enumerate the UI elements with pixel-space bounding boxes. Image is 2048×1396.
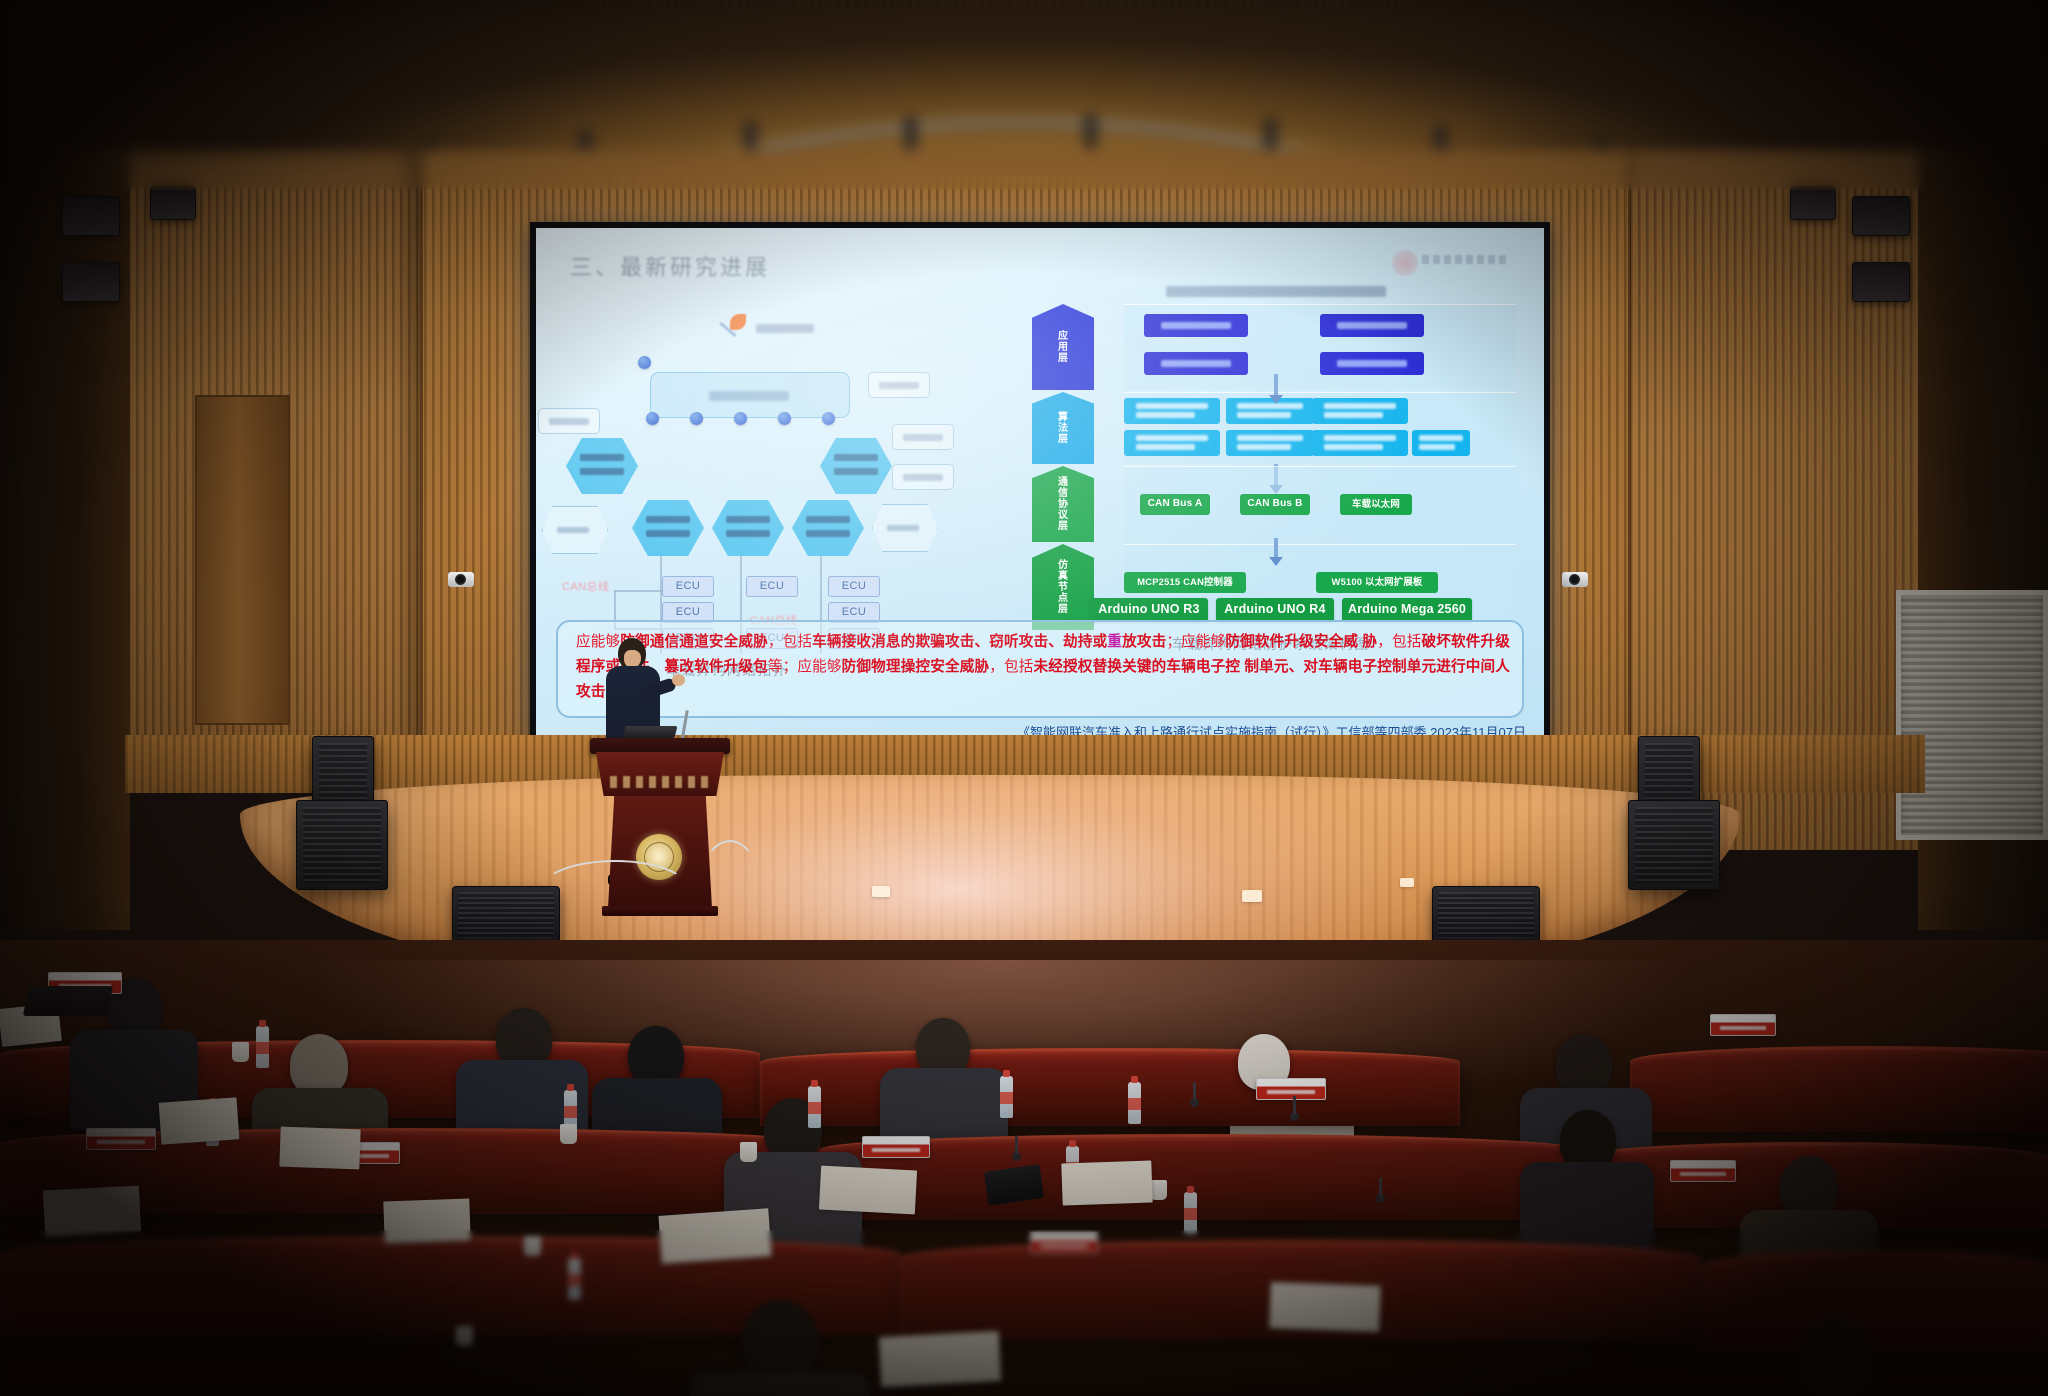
- auditorium-scene: 三、最新研究进展: [0, 0, 2048, 1396]
- connector-dot: [646, 412, 659, 425]
- stage-debris: [872, 886, 890, 897]
- handout-document: [383, 1199, 470, 1244]
- box-label-line: [1237, 435, 1304, 441]
- desk-microphone[interactable]: [1376, 1194, 1385, 1203]
- stage-monitor-wedge: [1432, 886, 1540, 944]
- node-label-line: [879, 382, 919, 389]
- lectern-upper: [596, 752, 724, 796]
- left-diagram: CAN总线 CAN总线 ECU ECU ECU ECU ECU ECU ECU …: [550, 290, 1020, 670]
- desk-row: [820, 1134, 1580, 1220]
- audience-body: [690, 1372, 870, 1396]
- board-arduino-uno-r4: Arduino UNO R4: [1216, 598, 1334, 622]
- box-label-line: [1324, 435, 1397, 441]
- paper-cup: [456, 1326, 473, 1346]
- layer-box: [1312, 398, 1408, 424]
- lectern-top: [590, 738, 730, 754]
- requirement-text: 应能够防御通信通道安全威胁，包括车辆接收消息的欺骗攻击、窃听攻击、劫持或重放攻击…: [576, 630, 1510, 705]
- speaker-grille: [1438, 892, 1534, 938]
- water-bottle: [1128, 1082, 1141, 1124]
- node-label-line: [806, 530, 850, 537]
- connector-dot: [778, 412, 791, 425]
- desk-microphone[interactable]: [1012, 1152, 1021, 1161]
- wall-speaker: [1790, 186, 1836, 220]
- ptz-camera-icon: [448, 572, 474, 587]
- domain-controller-node: [632, 500, 704, 556]
- water-bottle: [1000, 1076, 1013, 1118]
- node-label-line: [646, 530, 690, 537]
- node-label-line: [646, 516, 690, 523]
- audience-head: [628, 1026, 684, 1086]
- projection-screen[interactable]: 三、最新研究进展: [536, 228, 1544, 740]
- paper-cup: [740, 1142, 757, 1162]
- layer-tag-label: 算法层: [1055, 412, 1072, 445]
- desk-row: [1700, 1250, 2048, 1350]
- board-arduino-uno-r3: Arduino UNO R3: [1090, 598, 1208, 622]
- sim-box-mcp2515: MCP2515 CAN控制器: [1124, 572, 1246, 593]
- domain-controller-node: [566, 438, 638, 494]
- bus-label: CAN总线: [562, 578, 609, 594]
- ptz-camera-icon: [1562, 572, 1588, 587]
- node-label-line: [580, 454, 624, 461]
- wall-speaker: [62, 262, 120, 302]
- connector-dot: [690, 412, 703, 425]
- ecu-box: ECU: [828, 576, 880, 597]
- audience-head: [1556, 1034, 1612, 1096]
- layer-tag-algorithm: 算法层: [1032, 392, 1094, 464]
- protocol-box-can-b: CAN Bus B: [1240, 494, 1310, 515]
- box-label-line: [1136, 412, 1196, 418]
- rocket-icon: [718, 312, 752, 346]
- node-label-line: [834, 468, 878, 475]
- box-label-line: [1237, 412, 1292, 418]
- layer-box: [1144, 352, 1248, 375]
- handout-document: [879, 1331, 1001, 1387]
- connector-dot: [638, 356, 651, 369]
- node-label-line: [557, 527, 589, 533]
- desk-microphone[interactable]: [1290, 1112, 1299, 1121]
- name-card: [1710, 1014, 1776, 1036]
- domain-controller-node: [792, 500, 864, 556]
- layer-tag-label: 仿真节点层: [1055, 560, 1072, 615]
- desk-row: [1630, 1046, 2048, 1132]
- audience-head: [1780, 1156, 1838, 1218]
- lectern-laptop[interactable]: [623, 726, 678, 738]
- water-bottle: [808, 1086, 821, 1128]
- layer-tag-protocol: 通信协议层: [1032, 466, 1094, 542]
- sim-box-w5100: W5100 以太网扩展板: [1316, 572, 1438, 593]
- paper-cup: [524, 1236, 541, 1256]
- wall-speaker: [62, 196, 120, 236]
- layer-box: [1412, 430, 1470, 456]
- desk-microphone[interactable]: [1190, 1098, 1199, 1107]
- laptop-device[interactable]: [23, 986, 113, 1016]
- handout-document: [658, 1208, 771, 1264]
- layer-box: [1226, 430, 1314, 456]
- handout-document: [819, 1166, 917, 1215]
- domain-controller-node: [712, 500, 784, 556]
- box-label-line: [1337, 360, 1408, 367]
- box-label-line: [1324, 444, 1384, 450]
- speaker-stack: [296, 800, 388, 890]
- layer-box: [1320, 352, 1424, 375]
- paper-cup: [560, 1124, 577, 1144]
- logo-mark-icon: [1392, 250, 1418, 276]
- handout-document: [43, 1186, 141, 1237]
- speaker-grille: [458, 892, 554, 938]
- hvac-return-grille: [1896, 590, 2048, 840]
- node-label-line: [834, 454, 878, 461]
- wall-speaker: [1852, 196, 1910, 236]
- wall-seam: [420, 150, 423, 790]
- box-label-line: [1324, 412, 1384, 418]
- water-bottle: [568, 1258, 581, 1300]
- bus-wire: [614, 590, 662, 592]
- water-bottle: [1184, 1192, 1197, 1234]
- node-label-line: [903, 434, 943, 441]
- audience-head: [496, 1008, 552, 1068]
- water-bottle: [256, 1026, 269, 1068]
- name-card: [86, 1128, 156, 1150]
- layer-box: [1320, 314, 1424, 337]
- layer-box: [1124, 430, 1220, 456]
- wall-speaker: [150, 186, 196, 220]
- handout-document: [159, 1097, 240, 1144]
- side-node: [892, 424, 954, 450]
- stage-cable: [700, 840, 760, 930]
- desk-row: [760, 1048, 1460, 1126]
- wall-speaker: [1852, 262, 1910, 302]
- presenter-hand: [672, 674, 685, 686]
- stage-debris: [1242, 890, 1262, 902]
- layer-box: [1312, 430, 1408, 456]
- side-node: [872, 504, 938, 552]
- cloud-platform-node: [650, 372, 850, 418]
- name-card: [862, 1136, 930, 1158]
- box-label-line: [1161, 322, 1232, 329]
- stage-cable: [540, 860, 690, 920]
- audience-head: [290, 1034, 348, 1096]
- node-label-line: [549, 418, 589, 425]
- slide-title: 三、最新研究进展: [570, 250, 770, 282]
- box-label-line: [1419, 444, 1455, 450]
- connector-dot: [734, 412, 747, 425]
- node-label-line: [887, 525, 919, 531]
- flow-arrow: [1274, 538, 1278, 558]
- paper-cup: [232, 1042, 249, 1062]
- domain-controller-node: [820, 438, 892, 494]
- audience-head: [1560, 1110, 1616, 1170]
- box-label-line: [1136, 403, 1209, 409]
- layer-tag-label: 应用层: [1055, 331, 1072, 364]
- box-label-line: [1337, 322, 1408, 329]
- logo-wordmark: [1422, 255, 1508, 264]
- protocol-box-can-a: CAN Bus A: [1140, 494, 1210, 515]
- ecu-box: ECU: [746, 576, 798, 597]
- connector-dot: [822, 412, 835, 425]
- box-label-line: [1136, 444, 1196, 450]
- university-logo: [1402, 242, 1522, 272]
- ecu-box: ECU: [662, 576, 714, 597]
- name-card: [1256, 1078, 1326, 1100]
- node-label-line: [580, 468, 624, 475]
- lectern-engraved-text: [610, 776, 710, 788]
- box-label-line: [1136, 435, 1209, 441]
- box-label-line: [1237, 444, 1292, 450]
- box-label-line: [1161, 360, 1232, 367]
- name-card: [1030, 1232, 1098, 1254]
- layer-box: [1144, 314, 1248, 337]
- layer-box: [1124, 398, 1220, 424]
- node-label-line: [726, 530, 770, 537]
- requirement-callout: 应能够防御通信通道安全威胁，包括车辆接收消息的欺骗攻击、窃听攻击、劫持或重放攻击…: [556, 620, 1524, 718]
- node-label-line: [726, 516, 770, 523]
- node-label-line: [903, 474, 943, 481]
- layer-tag-simulation: 仿真节点层: [1032, 544, 1094, 630]
- side-node: [538, 408, 600, 434]
- right-diagram-title: [1166, 286, 1386, 297]
- name-card: [1670, 1160, 1736, 1182]
- audience-head: [1800, 1318, 1872, 1396]
- box-label-line: [1419, 435, 1463, 441]
- rocket-label: [756, 324, 814, 333]
- side-node: [892, 464, 954, 490]
- node-label-line: [806, 516, 850, 523]
- side-node: [868, 372, 930, 398]
- flow-arrow: [1274, 374, 1278, 396]
- speaker-stack: [1628, 800, 1720, 890]
- cloud-platform-label: [709, 391, 789, 401]
- stage-side-door[interactable]: [195, 395, 290, 725]
- handout-document: [1269, 1282, 1381, 1332]
- layer-tag-application: 应用层: [1032, 304, 1094, 390]
- handout-document: [1061, 1160, 1152, 1205]
- side-node: [542, 506, 608, 554]
- stage-debris: [1400, 878, 1414, 887]
- box-label-line: [1324, 403, 1397, 409]
- handout-document: [279, 1127, 360, 1170]
- board-arduino-mega-2560: Arduino Mega 2560: [1342, 598, 1472, 622]
- protocol-box-ethernet: 车载以太网: [1340, 494, 1412, 515]
- layer-tag-label: 通信协议层: [1055, 477, 1072, 532]
- right-diagram: 应用层 算法层 通信协议层 CAN Bus: [1026, 286, 1526, 676]
- audience-head: [742, 1300, 818, 1382]
